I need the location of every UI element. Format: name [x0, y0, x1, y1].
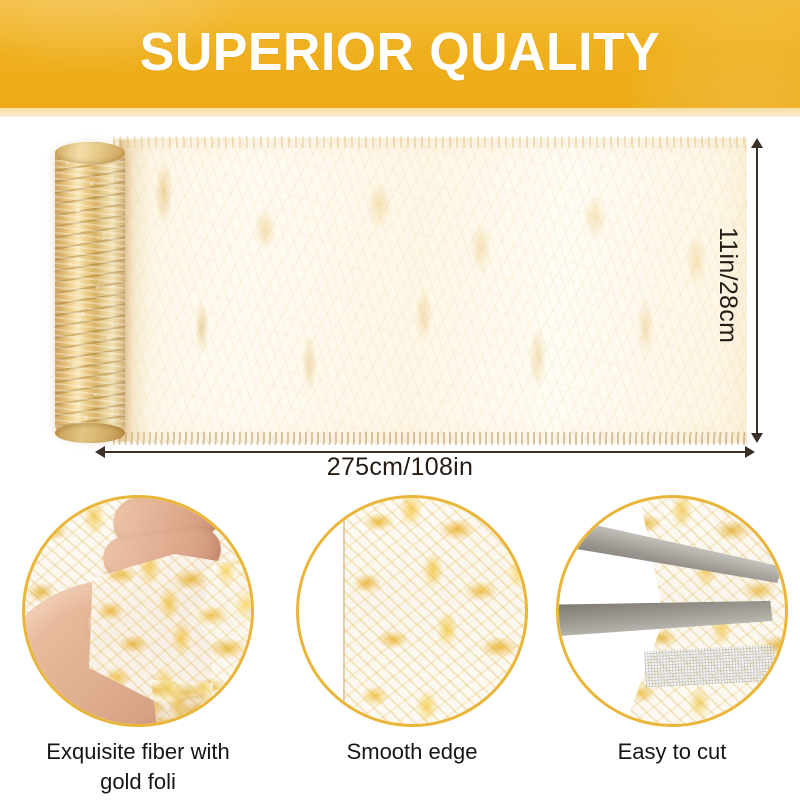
feature-caption-line-1: Easy to cut — [539, 737, 800, 767]
gold-foil-speckle — [55, 142, 125, 439]
banner-underline-strip — [0, 108, 800, 117]
width-dimension-label: 275cm/108in — [0, 453, 800, 482]
feature-image-circle — [296, 495, 528, 727]
fabric-top-edge — [113, 136, 747, 148]
feature-easy-to-cut: Easy to cut — [539, 487, 800, 800]
arrow-down-icon — [751, 433, 763, 443]
roll-bottom-cap — [55, 423, 125, 443]
roll-top-cap — [55, 142, 125, 164]
feature-caption: Smooth edge — [279, 737, 545, 767]
feature-caption: Easy to cut — [539, 737, 800, 767]
rolled-fabric-cylinder — [55, 142, 125, 439]
product-showcase: 275cm/108in 11in/28cm — [0, 117, 800, 487]
roll-curve-shadow — [119, 140, 171, 441]
feature-caption: Exquisite fiber with gold foli — [5, 737, 271, 797]
fabric-bottom-edge — [113, 432, 747, 445]
unrolled-fabric-sheet — [113, 138, 747, 443]
feature-caption-line-1: Exquisite fiber with — [5, 737, 271, 767]
fabric-mesh-weave — [644, 645, 776, 688]
header-banner: SUPERIOR QUALITY — [0, 0, 800, 108]
infographic-page: SUPERIOR QUALITY 275cm/108in — [0, 0, 800, 800]
gold-foil-fabric-texture — [343, 498, 525, 724]
circle-image-clip — [559, 498, 785, 724]
feature-image-circle — [556, 495, 788, 727]
feature-smooth-edge: Smooth edge — [279, 487, 545, 800]
height-dimension-arrow — [751, 138, 763, 443]
height-dimension-label: 11in/28cm — [713, 227, 742, 343]
feature-image-circle — [22, 495, 254, 727]
feature-caption-line-2: gold foli — [5, 767, 271, 797]
banner-title: SUPERIOR QUALITY — [16, 0, 784, 108]
circle-image-clip — [299, 498, 525, 724]
dimension-line — [756, 145, 758, 436]
feature-row: Exquisite fiber with gold foli Smooth ed… — [0, 487, 800, 800]
feature-caption-line-1: Smooth edge — [279, 737, 545, 767]
fabric-roll-image — [55, 138, 747, 443]
feature-exquisite-fiber: Exquisite fiber with gold foli — [5, 487, 271, 800]
smooth-cut-edge — [343, 498, 345, 724]
circle-image-clip — [25, 498, 251, 724]
